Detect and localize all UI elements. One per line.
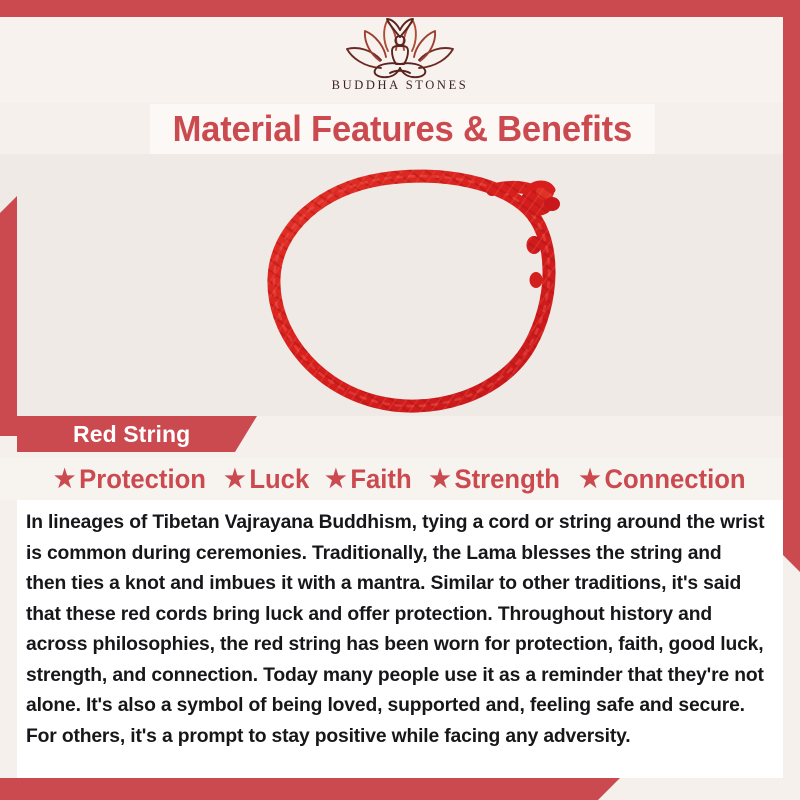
benefit-item-faith: ★ Faith (325, 464, 411, 495)
left-red-border (0, 196, 17, 436)
lotus-meditation-icon (342, 15, 458, 81)
benefit-label: Connection (605, 464, 746, 495)
benefit-item-luck: ★ Luck (224, 464, 309, 495)
bottom-red-border (0, 778, 620, 800)
star-icon: ★ (580, 467, 601, 492)
benefit-item-strength: ★ Strength (429, 464, 560, 495)
infographic-page: BUDDHA STONES Material Features & Benefi… (0, 0, 800, 800)
benefit-item-connection: ★ Connection (580, 464, 746, 495)
benefit-keyword-row: ★ Protection ★ Luck ★ Faith ★ Strength ★… (0, 458, 800, 500)
star-icon: ★ (54, 467, 75, 492)
brand-header: BUDDHA STONES (0, 17, 800, 103)
description-block: In lineages of Tibetan Vajrayana Buddhis… (17, 500, 783, 778)
page-title-band: Material Features & Benefits (150, 104, 655, 154)
description-text: In lineages of Tibetan Vajrayana Buddhis… (26, 508, 765, 752)
material-name-label: Red String (17, 421, 190, 448)
page-title: Material Features & Benefits (173, 108, 632, 150)
top-red-border (0, 0, 800, 17)
star-icon: ★ (224, 467, 245, 492)
benefit-label: Strength (455, 464, 560, 495)
benefit-label: Luck (249, 464, 309, 495)
star-icon: ★ (325, 467, 346, 492)
material-name-banner: Red String (17, 416, 257, 452)
brand-name: BUDDHA STONES (332, 78, 469, 93)
red-braided-string-bracelet-image (234, 152, 594, 420)
star-icon: ★ (429, 467, 450, 492)
benefit-item-protection: ★ Protection (54, 464, 206, 495)
benefit-label: Protection (79, 464, 206, 495)
product-photo-area (0, 154, 800, 416)
right-red-border (783, 17, 800, 572)
benefit-label: Faith (350, 464, 411, 495)
